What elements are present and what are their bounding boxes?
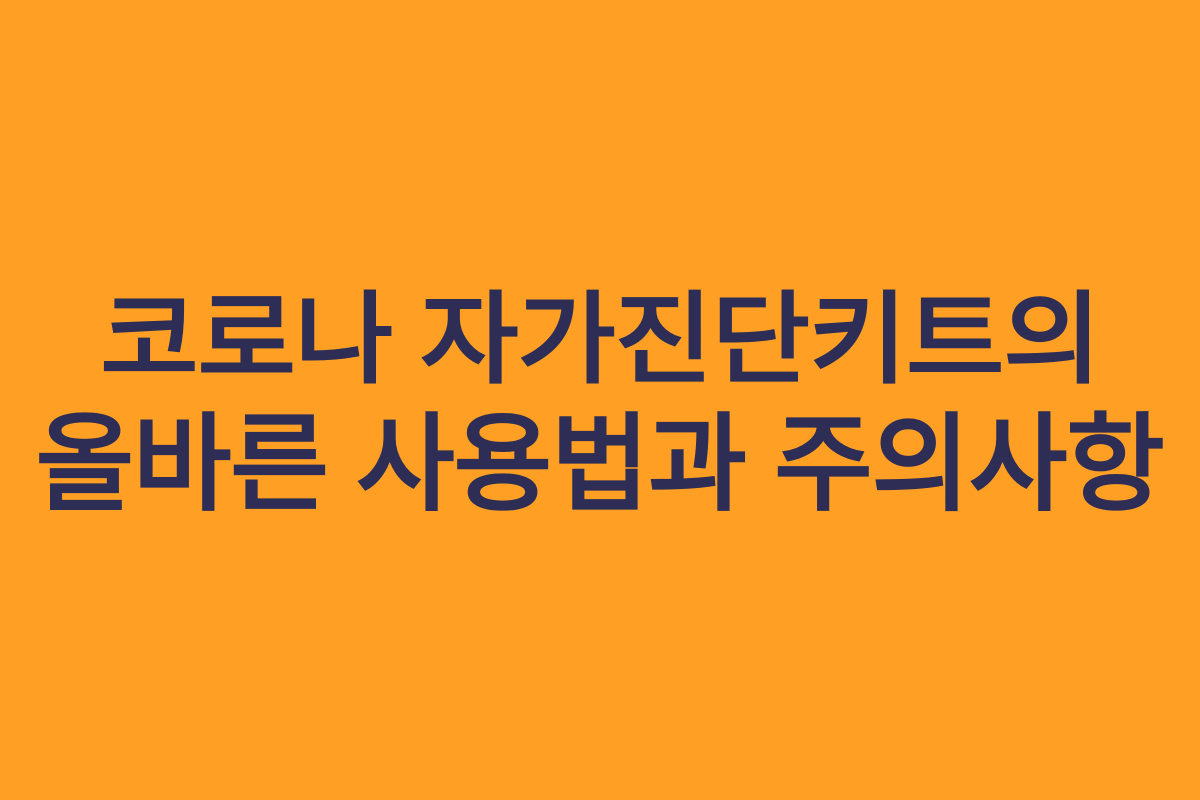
title-card: 코로나 자가진단키트의 올바른 사용법과 주의사항: [0, 0, 1200, 800]
page-title-line-1: 코로나 자가진단키트의: [100, 290, 1100, 390]
page-title: 코로나 자가진단키트의 올바른 사용법과 주의사항: [0, 290, 1200, 518]
page-title-line-2: 올바른 사용법과 주의사항: [36, 412, 1164, 518]
